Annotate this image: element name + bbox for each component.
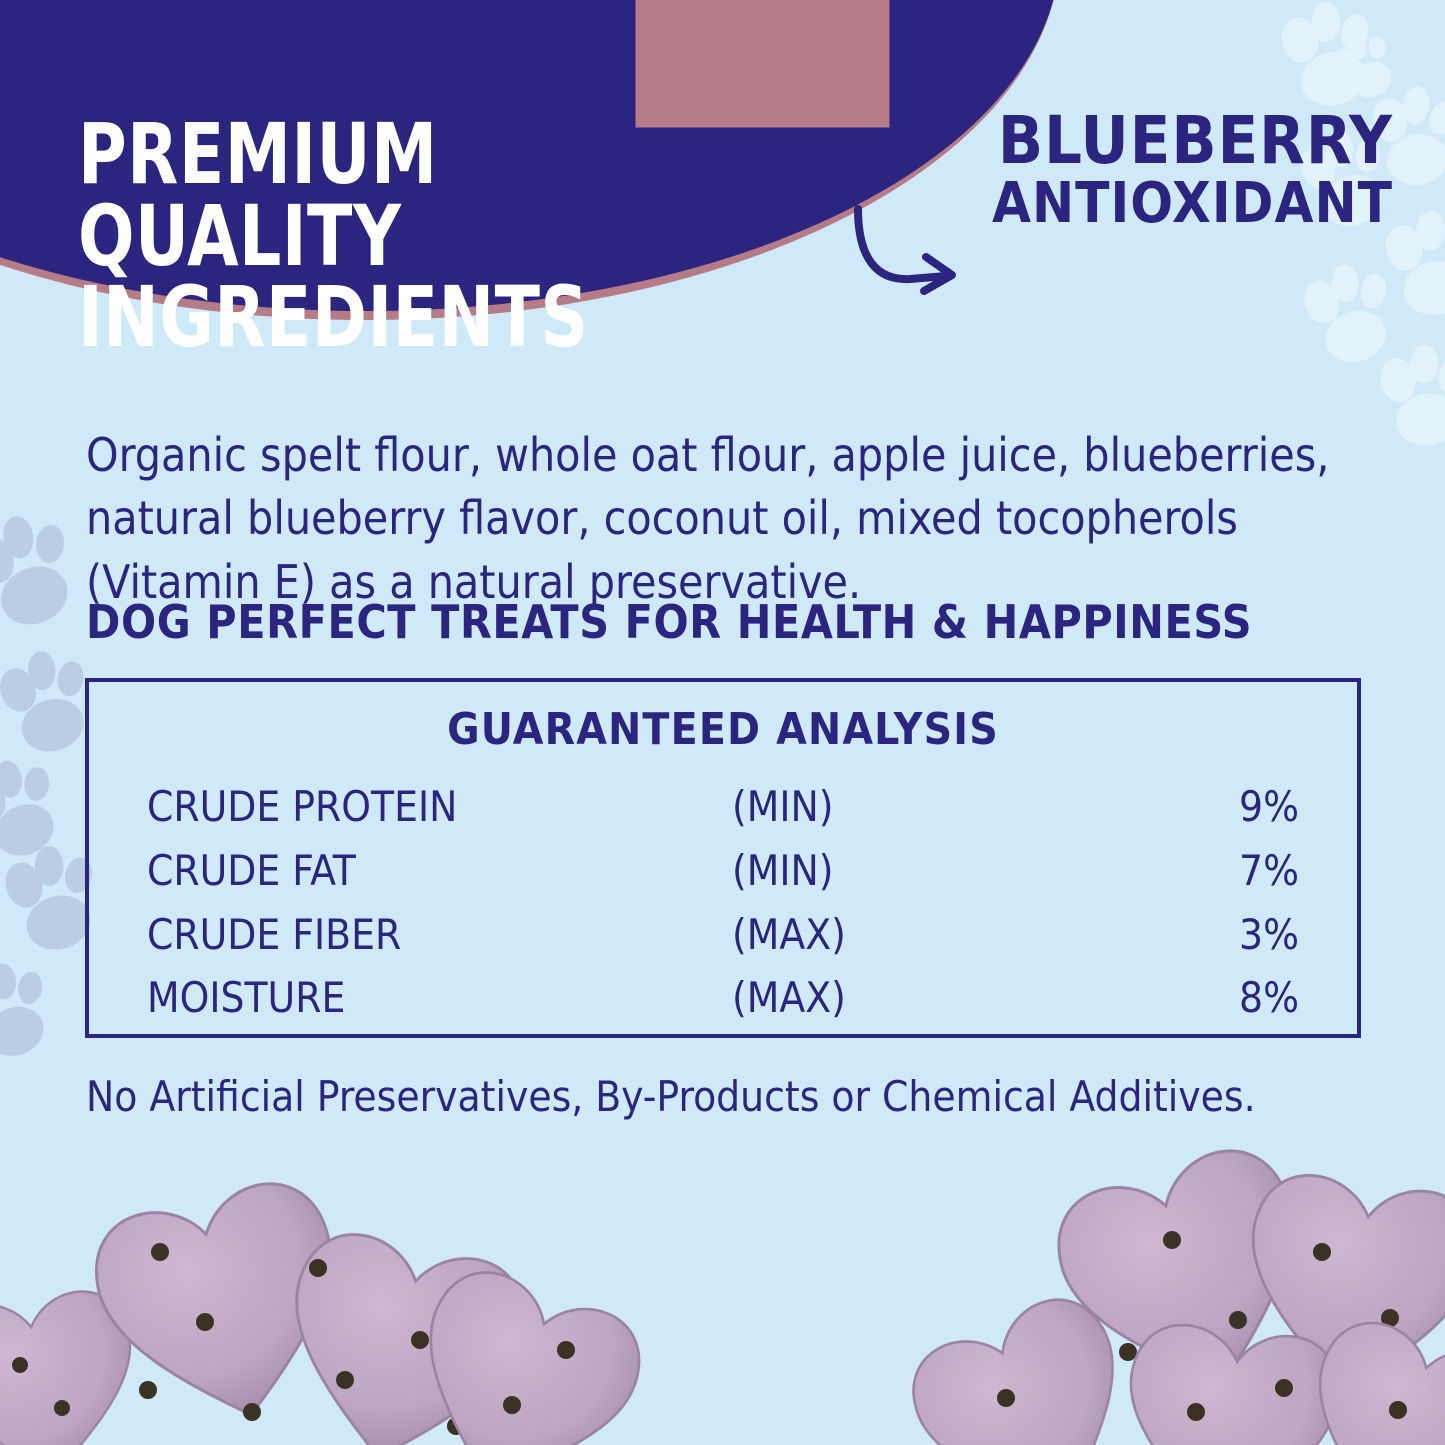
table-row: CRUDE FAT (MIN) 7% bbox=[147, 839, 1299, 903]
nutrient-label: MOISTURE bbox=[147, 966, 732, 1030]
heart-treat-icon bbox=[897, 1284, 1162, 1445]
disclaimer-text: No Artificial Preservatives, By-Products… bbox=[86, 1072, 1256, 1121]
nutrient-basis: (MIN) bbox=[732, 775, 1152, 839]
nutrient-value: 7% bbox=[1152, 839, 1299, 903]
heart-treat-icon bbox=[1117, 1320, 1344, 1445]
tagline-heading: DOG PERFECT TREATS FOR HEALTH & HAPPINES… bbox=[86, 595, 1252, 649]
nutrient-value: 3% bbox=[1152, 903, 1299, 967]
table-row: MOISTURE (MAX) 8% bbox=[147, 966, 1299, 1030]
callout-line-1: BLUEBERRY bbox=[992, 108, 1393, 174]
nutrient-value: 8% bbox=[1152, 966, 1299, 1030]
callout-line-2: ANTIOXIDANT bbox=[992, 174, 1393, 234]
guaranteed-analysis-heading: GUARANTEED ANALYSIS bbox=[89, 704, 1357, 755]
page-title-line-1: PREMIUM QUALITY bbox=[78, 105, 438, 284]
heart-treat-icon bbox=[267, 1224, 534, 1445]
heart-treat-icon bbox=[387, 1258, 655, 1445]
nutrient-value: 9% bbox=[1152, 775, 1299, 839]
ingredients-paragraph: Organic spelt flour, whole oat flour, ap… bbox=[86, 424, 1386, 614]
nutrient-basis: (MIN) bbox=[732, 839, 1152, 903]
nutrient-basis: (MAX) bbox=[732, 903, 1152, 967]
guaranteed-analysis-box: GUARANTEED ANALYSIS CRUDE PROTEIN (MIN) … bbox=[85, 678, 1361, 1038]
nutrient-label: CRUDE FAT bbox=[147, 839, 732, 903]
table-row: CRUDE PROTEIN (MIN) 9% bbox=[147, 775, 1299, 839]
curved-arrow-icon bbox=[848, 205, 978, 295]
heart-treat-icon bbox=[0, 1285, 147, 1445]
heart-treat-icon bbox=[1233, 1168, 1445, 1406]
heart-treat-icon bbox=[1043, 1140, 1336, 1419]
treat-photo-layer bbox=[0, 1140, 1445, 1445]
table-row: CRUDE FIBER (MAX) 3% bbox=[147, 903, 1299, 967]
nutrient-basis: (MAX) bbox=[732, 966, 1152, 1030]
page-title-line-2: INGREDIENTS bbox=[78, 277, 782, 358]
heart-treat-icon bbox=[1286, 1311, 1445, 1445]
page-title: PREMIUM QUALITYINGREDIENTS bbox=[78, 114, 782, 358]
nutrient-label: CRUDE FIBER bbox=[147, 903, 732, 967]
package-label-panel: PREMIUM QUALITYINGREDIENTS BLUEBERRY ANT… bbox=[0, 0, 1445, 1445]
blueberry-antioxidant-callout: BLUEBERRY ANTIOXIDANT bbox=[992, 108, 1393, 234]
guaranteed-analysis-rows: CRUDE PROTEIN (MIN) 9% CRUDE FAT (MIN) 7… bbox=[89, 775, 1357, 1030]
nutrient-label: CRUDE PROTEIN bbox=[147, 775, 732, 839]
heart-treat-icon bbox=[83, 1172, 365, 1444]
